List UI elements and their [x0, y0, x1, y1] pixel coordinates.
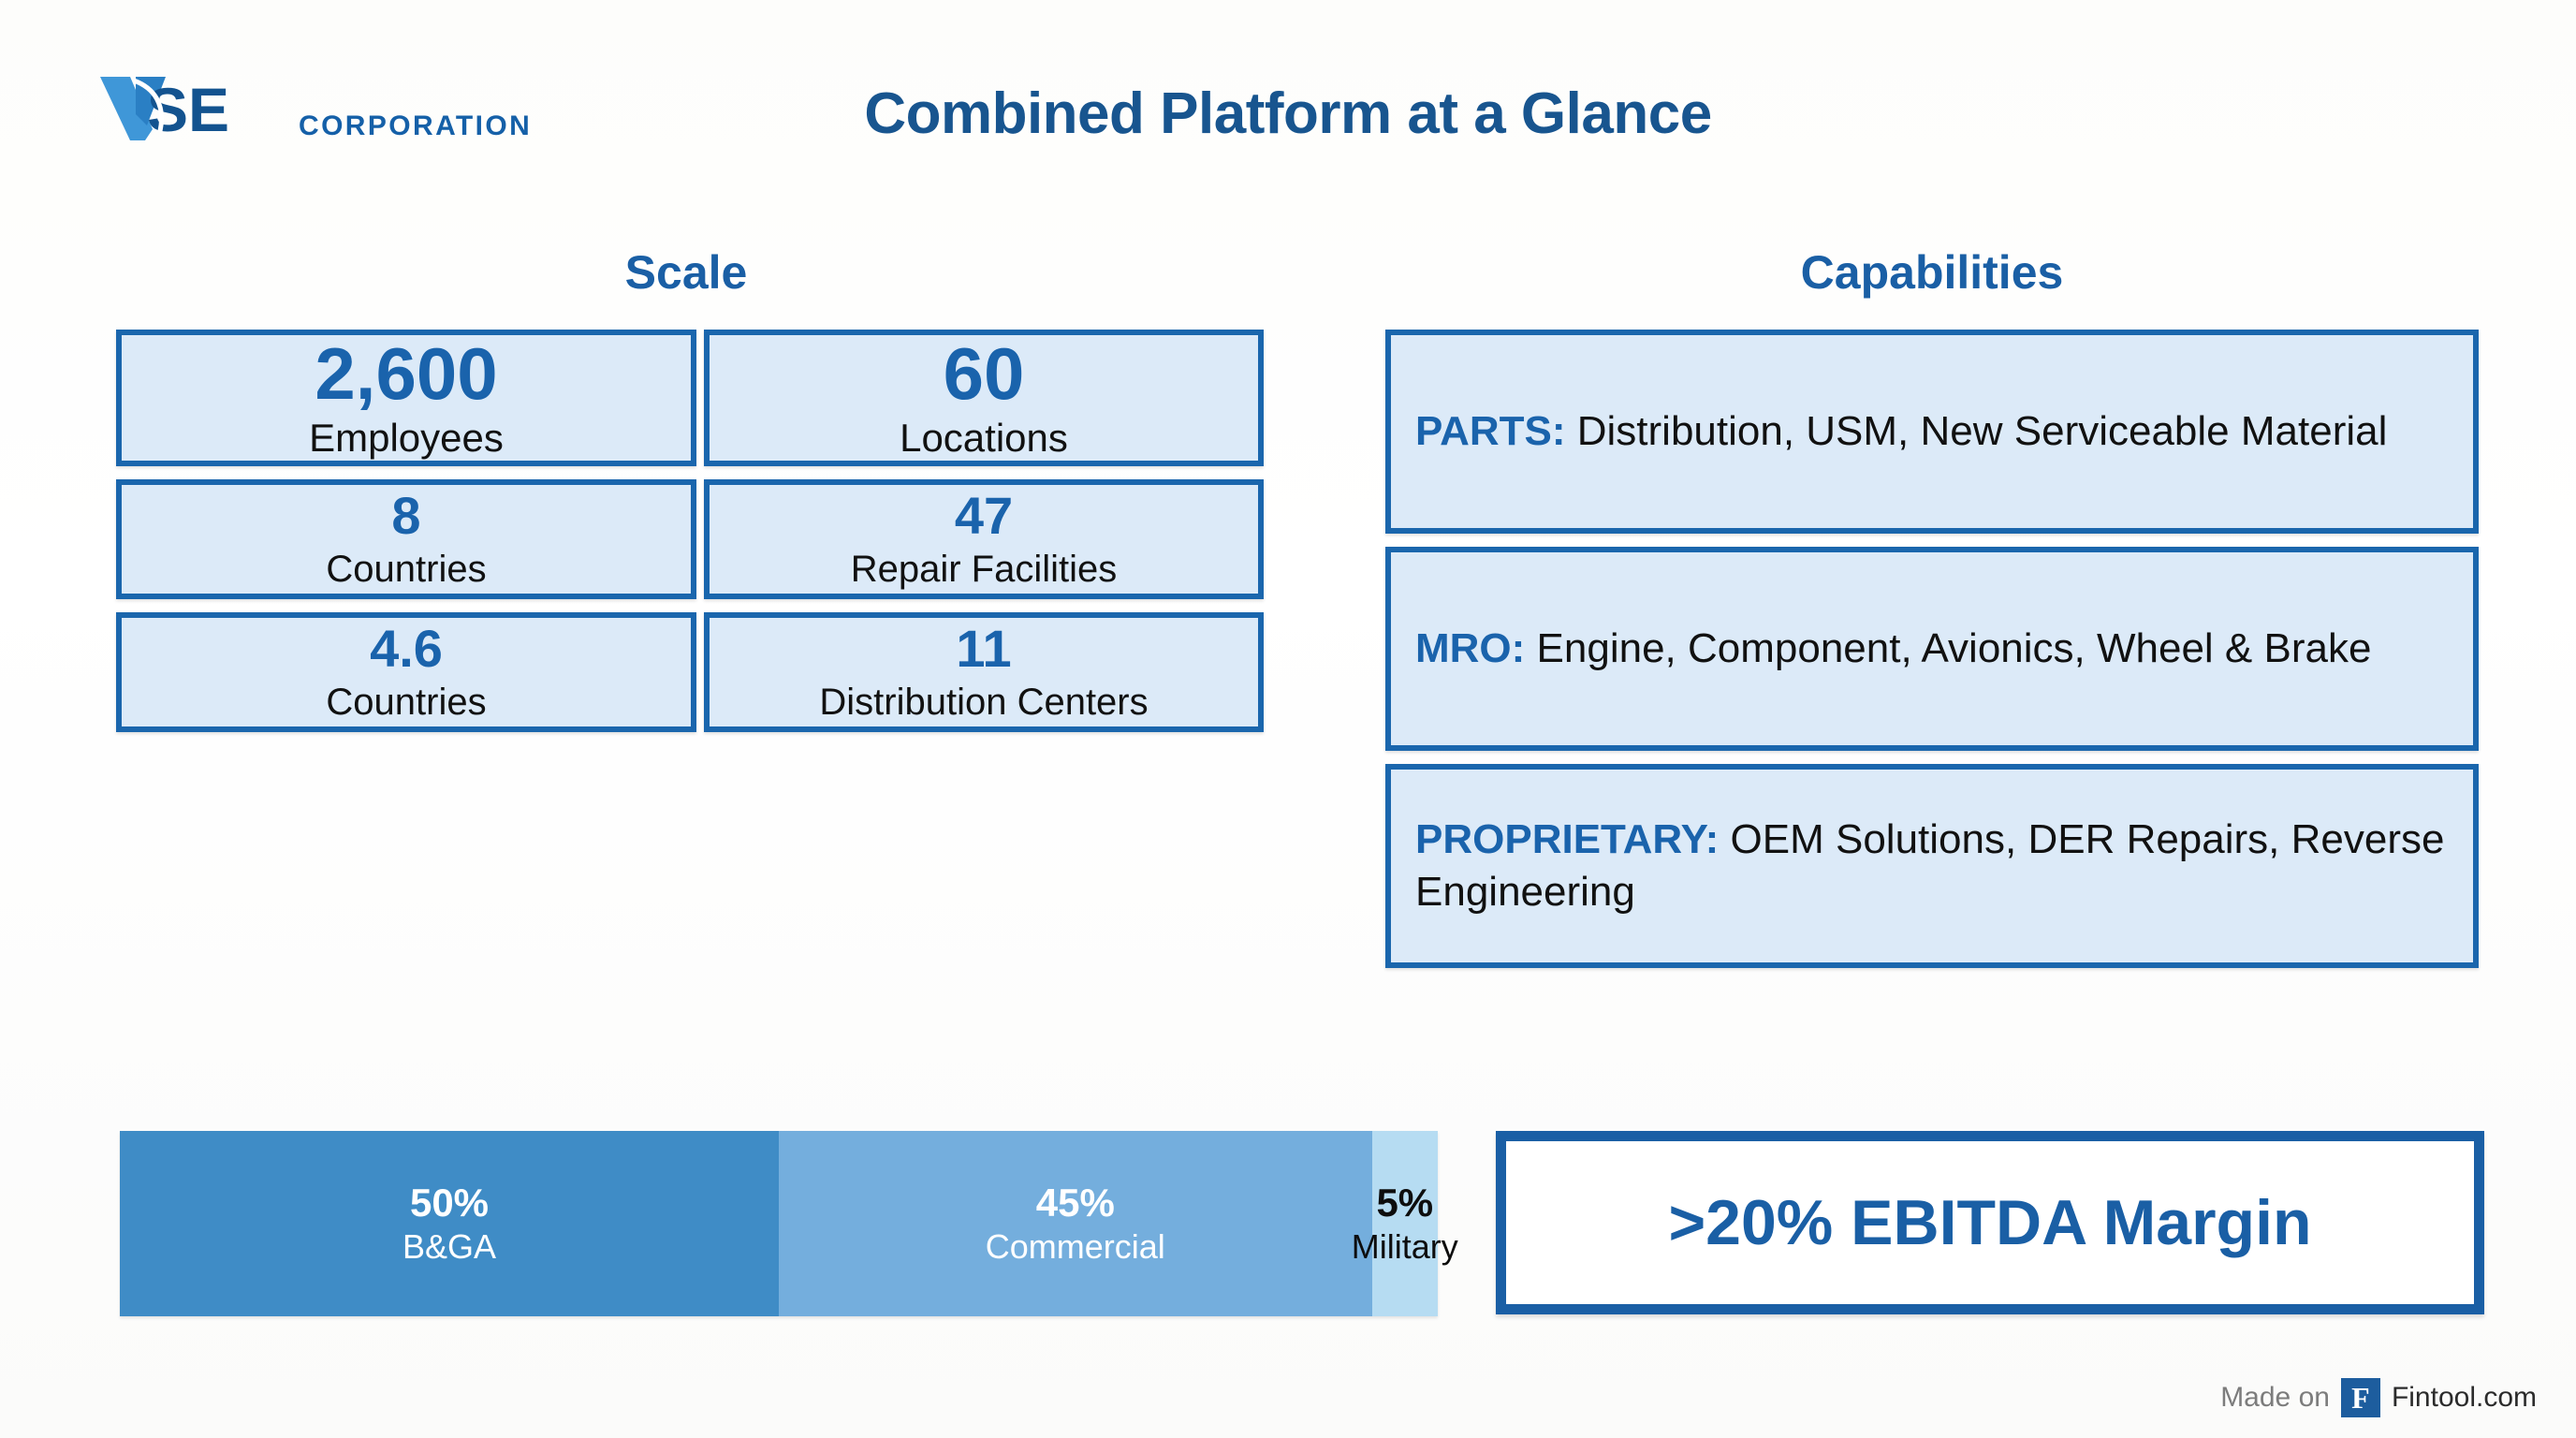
- stat-value: 11: [956, 623, 1011, 675]
- capabilities-list: PARTS: Distribution, USM, New Serviceabl…: [1385, 330, 2479, 968]
- stat-label: Countries: [326, 550, 486, 589]
- page-title: Combined Platform at a Glance: [0, 81, 2576, 147]
- capabilities-section-title: Capabilities: [1385, 245, 2479, 300]
- bottom-row: 50% B&GA 45% Commercial 5% Military >20%…: [0, 1123, 2576, 1329]
- capability-key: PROPRIETARY:: [1415, 816, 1719, 862]
- stat-label: Countries: [326, 682, 486, 722]
- mix-segment-value: 45%: [1036, 1181, 1115, 1225]
- capability-card-parts: PARTS: Distribution, USM, New Serviceabl…: [1385, 330, 2479, 534]
- scale-stat-grid: 2,600 Employees 60 Locations 8 Countries…: [116, 330, 1264, 732]
- stat-value: 60: [944, 337, 1025, 410]
- scale-section-title: Scale: [116, 245, 1256, 300]
- capability-key: MRO:: [1415, 625, 1525, 671]
- capability-card-proprietary: PROPRIETARY: OEM Solutions, DER Repairs,…: [1385, 764, 2479, 968]
- stat-value: 4.6: [370, 623, 443, 675]
- stat-card-distribution-centers: 11 Distribution Centers: [704, 612, 1264, 732]
- footer-site-name: Fintool.com: [2392, 1382, 2537, 1414]
- stat-card-repair-facilities: 47 Repair Facilities: [704, 479, 1264, 599]
- fintool-logo-icon: F: [2341, 1378, 2380, 1417]
- revenue-mix-stacked-bar: 50% B&GA 45% Commercial 5% Military: [120, 1131, 1438, 1316]
- capability-key: PARTS:: [1415, 408, 1566, 454]
- mix-segment-label: B&GA: [402, 1228, 496, 1266]
- stat-label: Repair Facilities: [851, 550, 1118, 589]
- stat-label: Employees: [309, 418, 504, 459]
- ebitda-margin-callout: >20% EBITDA Margin: [1496, 1131, 2484, 1314]
- ebitda-margin-text: >20% EBITDA Margin: [1668, 1186, 2311, 1259]
- stat-label: Distribution Centers: [819, 682, 1148, 722]
- footer-made-on-label: Made on: [2220, 1382, 2330, 1414]
- stat-card-countries-secondary: 4.6 Countries: [116, 612, 696, 732]
- stat-value: 47: [955, 490, 1013, 542]
- stat-label: Locations: [900, 418, 1068, 459]
- capability-detail: Distribution, USM, New Serviceable Mater…: [1566, 408, 2388, 454]
- capability-detail: Engine, Component, Avionics, Wheel & Bra…: [1525, 625, 2371, 671]
- footer-attribution: Made on F Fintool.com: [2220, 1378, 2537, 1417]
- content-columns: Scale 2,600 Employees 60 Locations 8 Cou…: [0, 245, 2576, 968]
- mix-segment-value: 50%: [410, 1181, 489, 1225]
- slide-canvas: SE CORPORATION Combined Platform at a Gl…: [0, 0, 2576, 1438]
- mix-segment-military: 5% Military: [1372, 1131, 1438, 1316]
- capability-card-mro: MRO: Engine, Component, Avionics, Wheel …: [1385, 547, 2479, 751]
- mix-segment-value: 5%: [1376, 1181, 1433, 1225]
- mix-segment-label: Military: [1352, 1228, 1458, 1266]
- mix-segment-commercial: 45% Commercial: [779, 1131, 1372, 1316]
- slide-header: SE CORPORATION Combined Platform at a Gl…: [0, 0, 2576, 178]
- stat-value: 8: [391, 490, 420, 542]
- stat-card-countries: 8 Countries: [116, 479, 696, 599]
- capability-text: PARTS: Distribution, USM, New Serviceabl…: [1415, 405, 2387, 458]
- capabilities-column: Capabilities PARTS: Distribution, USM, N…: [1385, 245, 2576, 968]
- stat-value: 2,600: [315, 337, 497, 410]
- mix-segment-bga: 50% B&GA: [120, 1131, 779, 1316]
- stat-card-locations: 60 Locations: [704, 330, 1264, 466]
- capability-text: MRO: Engine, Component, Avionics, Wheel …: [1415, 623, 2371, 675]
- capability-text: PROPRIETARY: OEM Solutions, DER Repairs,…: [1415, 814, 2449, 919]
- stat-card-employees: 2,600 Employees: [116, 330, 696, 466]
- scale-column: Scale 2,600 Employees 60 Locations 8 Cou…: [0, 245, 1385, 968]
- mix-segment-label: Commercial: [986, 1228, 1165, 1266]
